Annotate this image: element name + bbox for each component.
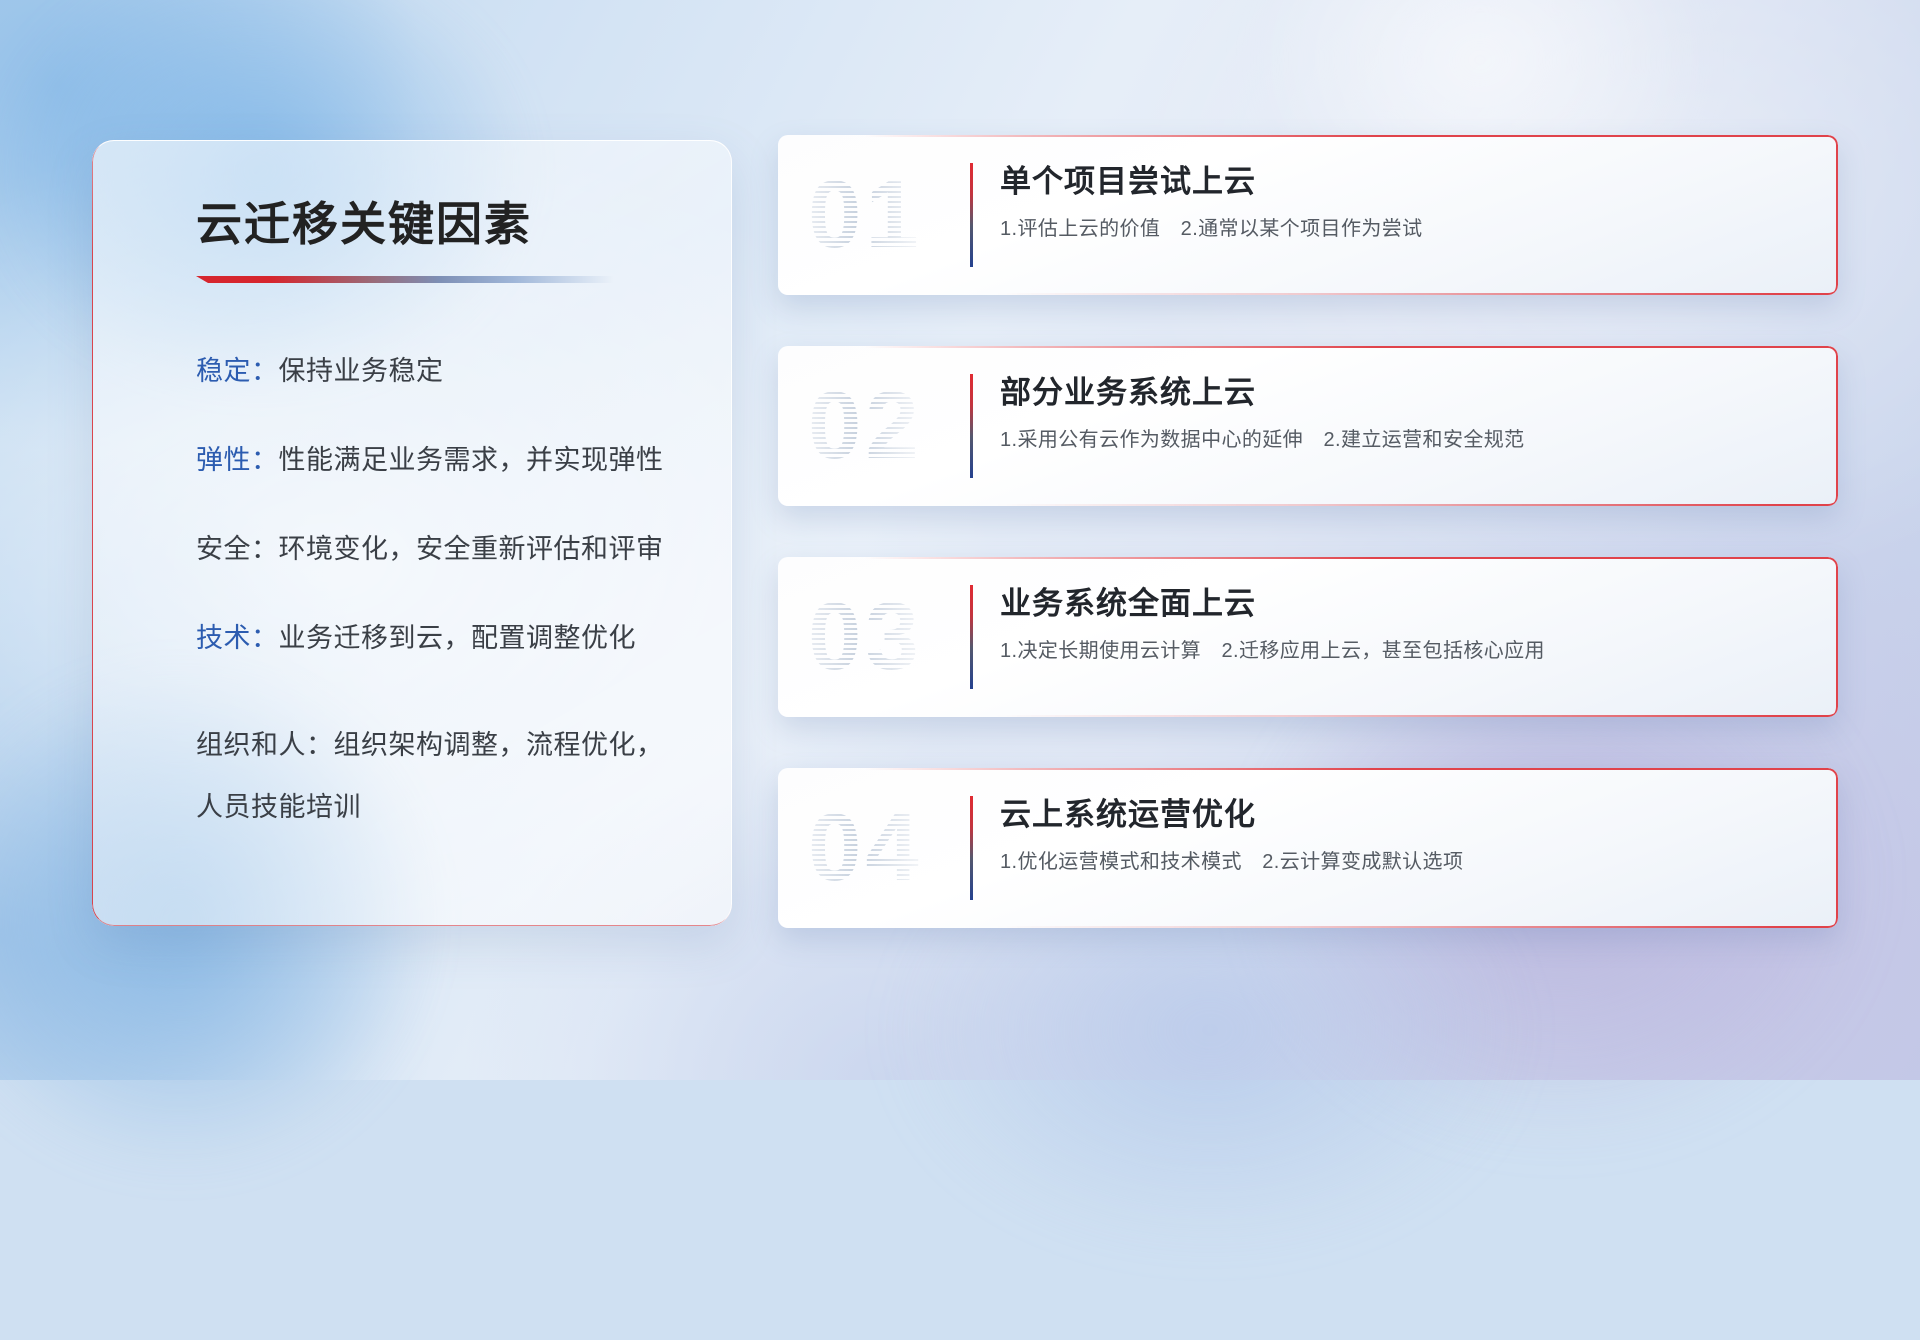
- stage-description: 1.采用公有云作为数据中心的延伸 2.建立运营和安全规范: [1000, 427, 1812, 453]
- list-item-text: 保持业务稳定: [279, 356, 444, 386]
- list-item-text: 业务迁移到云，配置调整优化: [279, 623, 637, 653]
- stage-title: 部分业务系统上云: [1000, 374, 1812, 411]
- list-item-text: 性能满足业务需求，并实现弹性: [279, 445, 664, 475]
- list-item: 组织和人：组织架构调整，流程优化，人员技能培训: [196, 714, 680, 838]
- stage-card-02[interactable]: 02 部分业务系统上云 1.采用公有云作为数据中心的延伸 2.建立运营和安全规范: [778, 346, 1838, 506]
- stage-divider-line: [970, 796, 973, 900]
- stage-body: 业务系统全面上云 1.决定长期使用云计算 2.迁移应用上云，甚至包括核心应用: [1000, 585, 1812, 664]
- stage-body: 部分业务系统上云 1.采用公有云作为数据中心的延伸 2.建立运营和安全规范: [1000, 374, 1812, 453]
- stage-number: 01: [808, 167, 923, 263]
- list-item-label: 技术：: [196, 623, 279, 653]
- stage-card-04[interactable]: 04 云上系统运营优化 1.优化运营模式和技术模式 2.云计算变成默认选项: [778, 768, 1838, 928]
- stage-number: 02: [808, 378, 923, 474]
- stage-title: 云上系统运营优化: [1000, 796, 1812, 833]
- title-underline-accent: [196, 276, 614, 283]
- stage-body: 云上系统运营优化 1.优化运营模式和技术模式 2.云计算变成默认选项: [1000, 796, 1812, 875]
- stage-description: 1.优化运营模式和技术模式 2.云计算变成默认选项: [1000, 849, 1812, 875]
- list-item-label: 稳定：: [196, 356, 279, 386]
- list-item: 稳定：保持业务稳定: [196, 358, 680, 385]
- key-factors-list: 稳定：保持业务稳定 弹性：性能满足业务需求，并实现弹性 安全：环境变化，安全重新…: [196, 358, 680, 900]
- stage-description: 1.决定长期使用云计算 2.迁移应用上云，甚至包括核心应用: [1000, 638, 1812, 664]
- stage-title: 业务系统全面上云: [1000, 585, 1812, 622]
- stage-divider-line: [970, 163, 973, 267]
- list-item-label: 安全：: [196, 534, 279, 564]
- stage-body: 单个项目尝试上云 1.评估上云的价值 2.通常以某个项目作为尝试: [1000, 163, 1812, 242]
- stage-description: 1.评估上云的价值 2.通常以某个项目作为尝试: [1000, 216, 1812, 242]
- page-title: 云迁移关键因素: [196, 188, 532, 254]
- list-item-label: 弹性：: [196, 445, 279, 475]
- stage-divider-line: [970, 374, 973, 478]
- list-item: 安全：环境变化，安全重新评估和评审: [196, 536, 680, 563]
- stage-card-01[interactable]: 01 单个项目尝试上云 1.评估上云的价值 2.通常以某个项目作为尝试: [778, 135, 1838, 295]
- key-factors-card: 云迁移关键因素 稳定：保持业务稳定 弹性：性能满足业务需求，并实现弹性 安全：环…: [92, 140, 732, 926]
- stage-number: 03: [808, 589, 923, 685]
- stage-divider-line: [970, 585, 973, 689]
- list-item-label: 组织和人：: [196, 730, 334, 760]
- list-item: 技术：业务迁移到云，配置调整优化: [196, 625, 680, 652]
- stage-card-03[interactable]: 03 业务系统全面上云 1.决定长期使用云计算 2.迁移应用上云，甚至包括核心应…: [778, 557, 1838, 717]
- list-item-text: 环境变化，安全重新评估和评审: [279, 534, 664, 564]
- stage-number: 04: [808, 800, 923, 896]
- stage-title: 单个项目尝试上云: [1000, 163, 1812, 200]
- list-item: 弹性：性能满足业务需求，并实现弹性: [196, 447, 680, 474]
- migration-stages-list: 01 单个项目尝试上云 1.评估上云的价值 2.通常以某个项目作为尝试 02 部…: [778, 135, 1838, 979]
